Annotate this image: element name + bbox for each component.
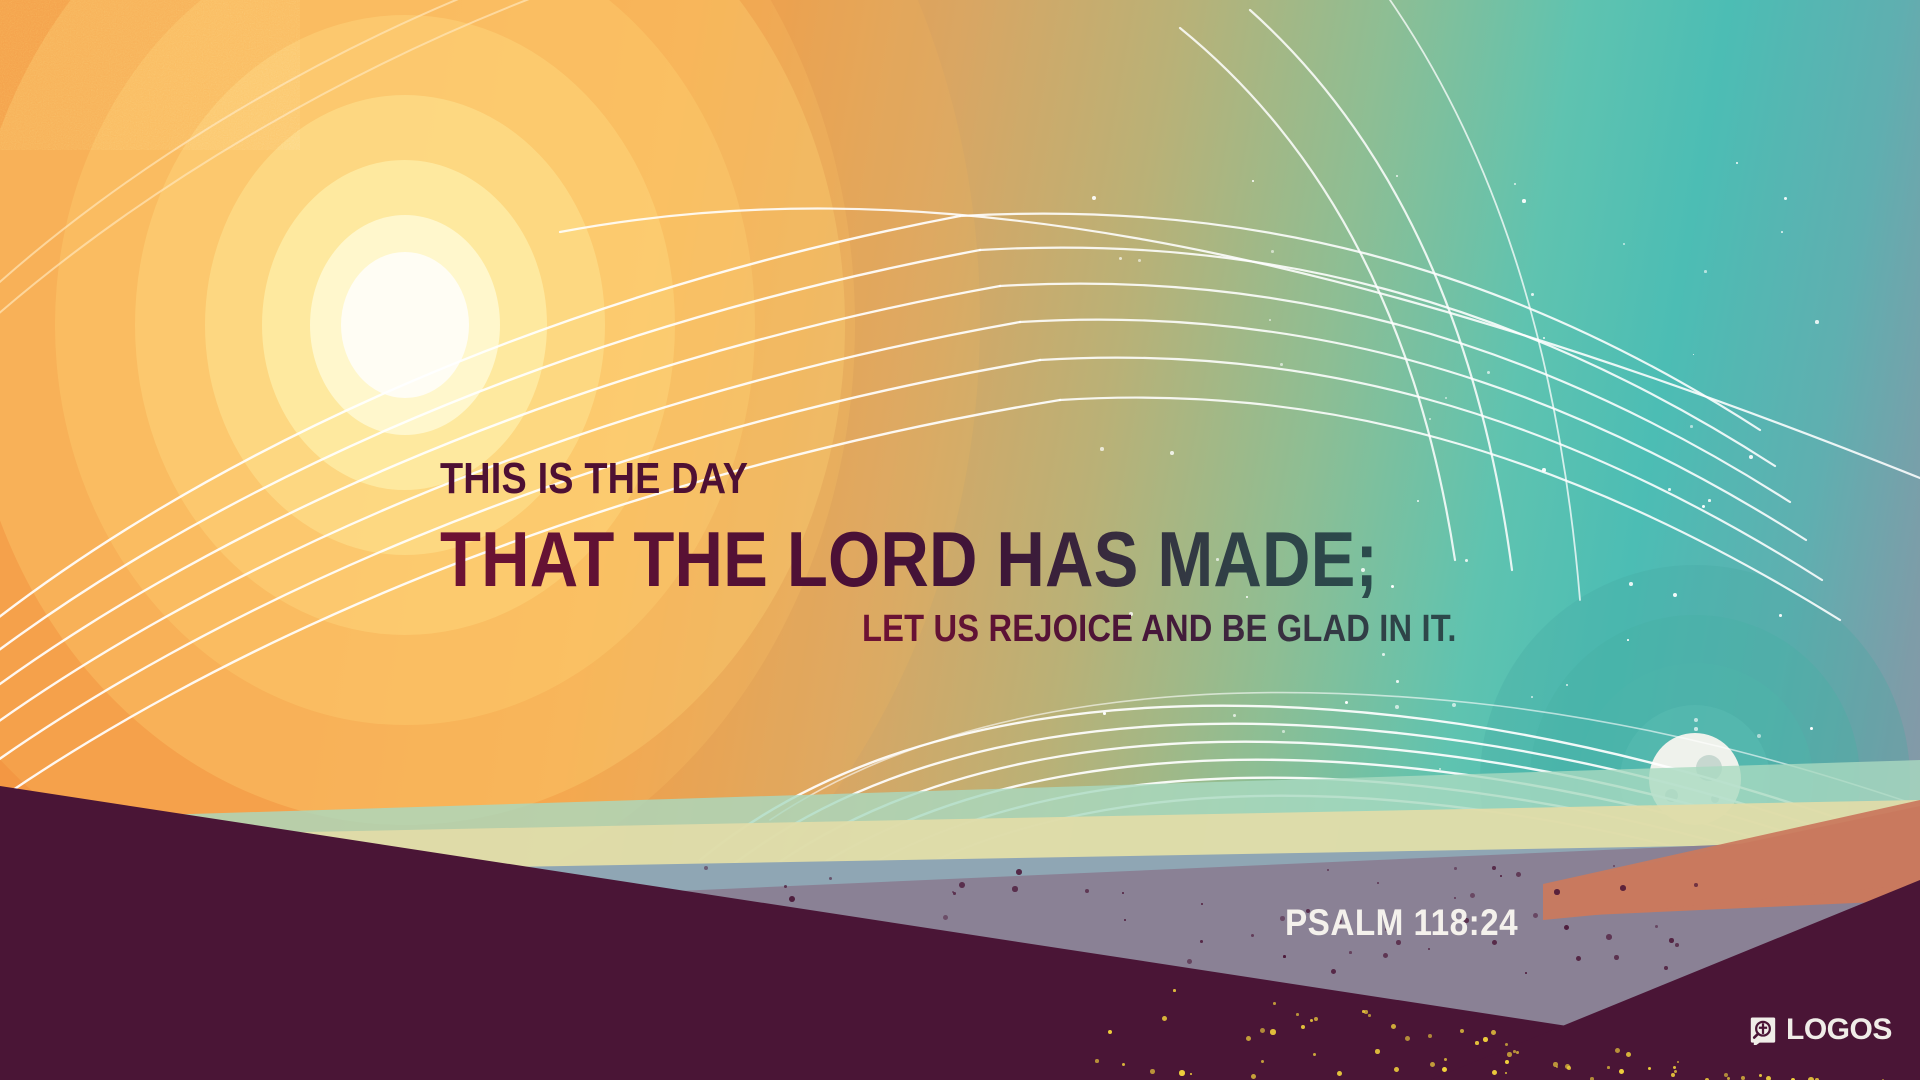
city-light xyxy=(1273,1002,1276,1005)
city-light xyxy=(1430,1062,1435,1067)
city-light xyxy=(1626,1052,1631,1057)
city-light xyxy=(1362,1010,1365,1013)
city-light xyxy=(1095,1059,1099,1063)
dust-dot xyxy=(1016,869,1022,875)
city-light xyxy=(1671,1073,1675,1077)
city-light xyxy=(1310,1019,1313,1022)
dust-dot xyxy=(1664,966,1668,970)
dust-dot xyxy=(1454,897,1456,899)
dust-dot xyxy=(943,915,948,920)
city-light xyxy=(1173,989,1176,992)
logos-wordmark: LOGOS xyxy=(1786,1015,1892,1045)
dust-dot xyxy=(1614,955,1619,960)
dust-dot xyxy=(1620,885,1626,891)
city-light xyxy=(1162,1016,1167,1021)
city-light xyxy=(1475,1041,1479,1045)
dust-dot xyxy=(829,877,832,880)
dust-dot xyxy=(1655,925,1658,928)
dust-dot xyxy=(1200,940,1203,943)
city-light xyxy=(1405,1036,1410,1041)
dust-dot xyxy=(1085,889,1089,893)
city-light xyxy=(1301,1025,1305,1029)
verse-image-canvas: THIS IS THE DAY THAT THE LORD HAS MADE; … xyxy=(0,0,1920,1080)
city-light xyxy=(1607,1066,1610,1069)
dust-dot xyxy=(1500,875,1502,877)
city-light xyxy=(1444,1058,1447,1061)
scatter-dots xyxy=(0,0,1920,1080)
dust-dot xyxy=(1122,892,1124,894)
city-light xyxy=(1766,1076,1771,1080)
city-light xyxy=(1270,1029,1276,1035)
dust-dot xyxy=(1251,934,1254,937)
dust-dot xyxy=(1187,959,1192,964)
city-light xyxy=(1122,1063,1125,1066)
dust-dot xyxy=(1669,938,1674,943)
dust-dot xyxy=(1613,865,1615,867)
city-light xyxy=(1260,1028,1265,1033)
dust-dot xyxy=(1516,872,1521,877)
city-light xyxy=(1337,1071,1342,1076)
city-light xyxy=(1741,1076,1745,1080)
city-light xyxy=(1246,1036,1251,1041)
city-light xyxy=(1516,1051,1519,1054)
dust-dot xyxy=(1454,867,1457,870)
dust-dot xyxy=(1331,969,1336,974)
city-light xyxy=(1261,1060,1264,1063)
dust-dot xyxy=(1383,953,1388,958)
city-light xyxy=(1190,1073,1192,1075)
city-light xyxy=(1673,1066,1676,1069)
city-light xyxy=(1677,1061,1679,1063)
city-light xyxy=(1619,1069,1624,1074)
dust-dot xyxy=(1576,956,1581,961)
dust-dot xyxy=(959,882,965,888)
dust-dot xyxy=(1349,951,1352,954)
dust-dot xyxy=(1694,883,1698,887)
city-light xyxy=(1492,1070,1497,1075)
dust-dot xyxy=(1280,916,1285,921)
city-light xyxy=(1296,1013,1299,1016)
dust-dot xyxy=(1201,903,1203,905)
dust-dot xyxy=(1124,919,1126,921)
city-light xyxy=(1364,1010,1368,1014)
city-light xyxy=(1567,1066,1571,1070)
city-light xyxy=(1460,1029,1464,1033)
city-light xyxy=(1394,1067,1399,1072)
city-light xyxy=(1251,1074,1256,1079)
city-light xyxy=(1375,1049,1380,1054)
city-light xyxy=(1108,1030,1112,1034)
city-light xyxy=(1150,1069,1155,1074)
city-light xyxy=(1442,1067,1447,1072)
city-light xyxy=(1428,1034,1432,1038)
dust-dot xyxy=(1377,882,1379,884)
dust-dot xyxy=(1428,948,1430,950)
city-light xyxy=(1505,1060,1509,1064)
dust-dot xyxy=(1283,955,1286,958)
dust-dot xyxy=(704,866,708,870)
dust-dot xyxy=(1554,889,1560,895)
city-light xyxy=(1615,1048,1620,1053)
city-light xyxy=(1507,1052,1512,1057)
city-light xyxy=(1391,1024,1396,1029)
city-light xyxy=(1553,1062,1558,1067)
city-light xyxy=(1491,1030,1496,1035)
city-light xyxy=(1313,1053,1316,1056)
city-light xyxy=(1505,1072,1507,1074)
scripture-reference: PSALM 118:24 xyxy=(1285,902,1518,944)
dust-dot xyxy=(789,896,795,902)
city-light xyxy=(1648,1067,1651,1070)
dust-dot xyxy=(1675,943,1679,947)
city-light xyxy=(1368,1014,1371,1017)
dust-dot xyxy=(1492,866,1496,870)
dust-dot xyxy=(1564,925,1569,930)
dust-dot xyxy=(1525,972,1527,974)
logos-magnifier-cross-icon xyxy=(1748,1015,1778,1045)
city-light xyxy=(1314,1017,1318,1021)
dust-dot xyxy=(1606,934,1612,940)
city-light xyxy=(1483,1037,1488,1042)
dust-dot xyxy=(1470,893,1475,898)
dust-dot xyxy=(784,885,787,888)
logos-brand-logo[interactable]: LOGOS xyxy=(1748,1015,1892,1045)
city-light xyxy=(1179,1070,1185,1076)
city-light xyxy=(1505,1043,1508,1046)
dust-dot xyxy=(953,892,956,895)
city-light xyxy=(1759,1074,1762,1077)
dust-dot xyxy=(1533,913,1538,918)
dust-dot xyxy=(1012,886,1018,892)
dust-dot xyxy=(1327,869,1329,871)
